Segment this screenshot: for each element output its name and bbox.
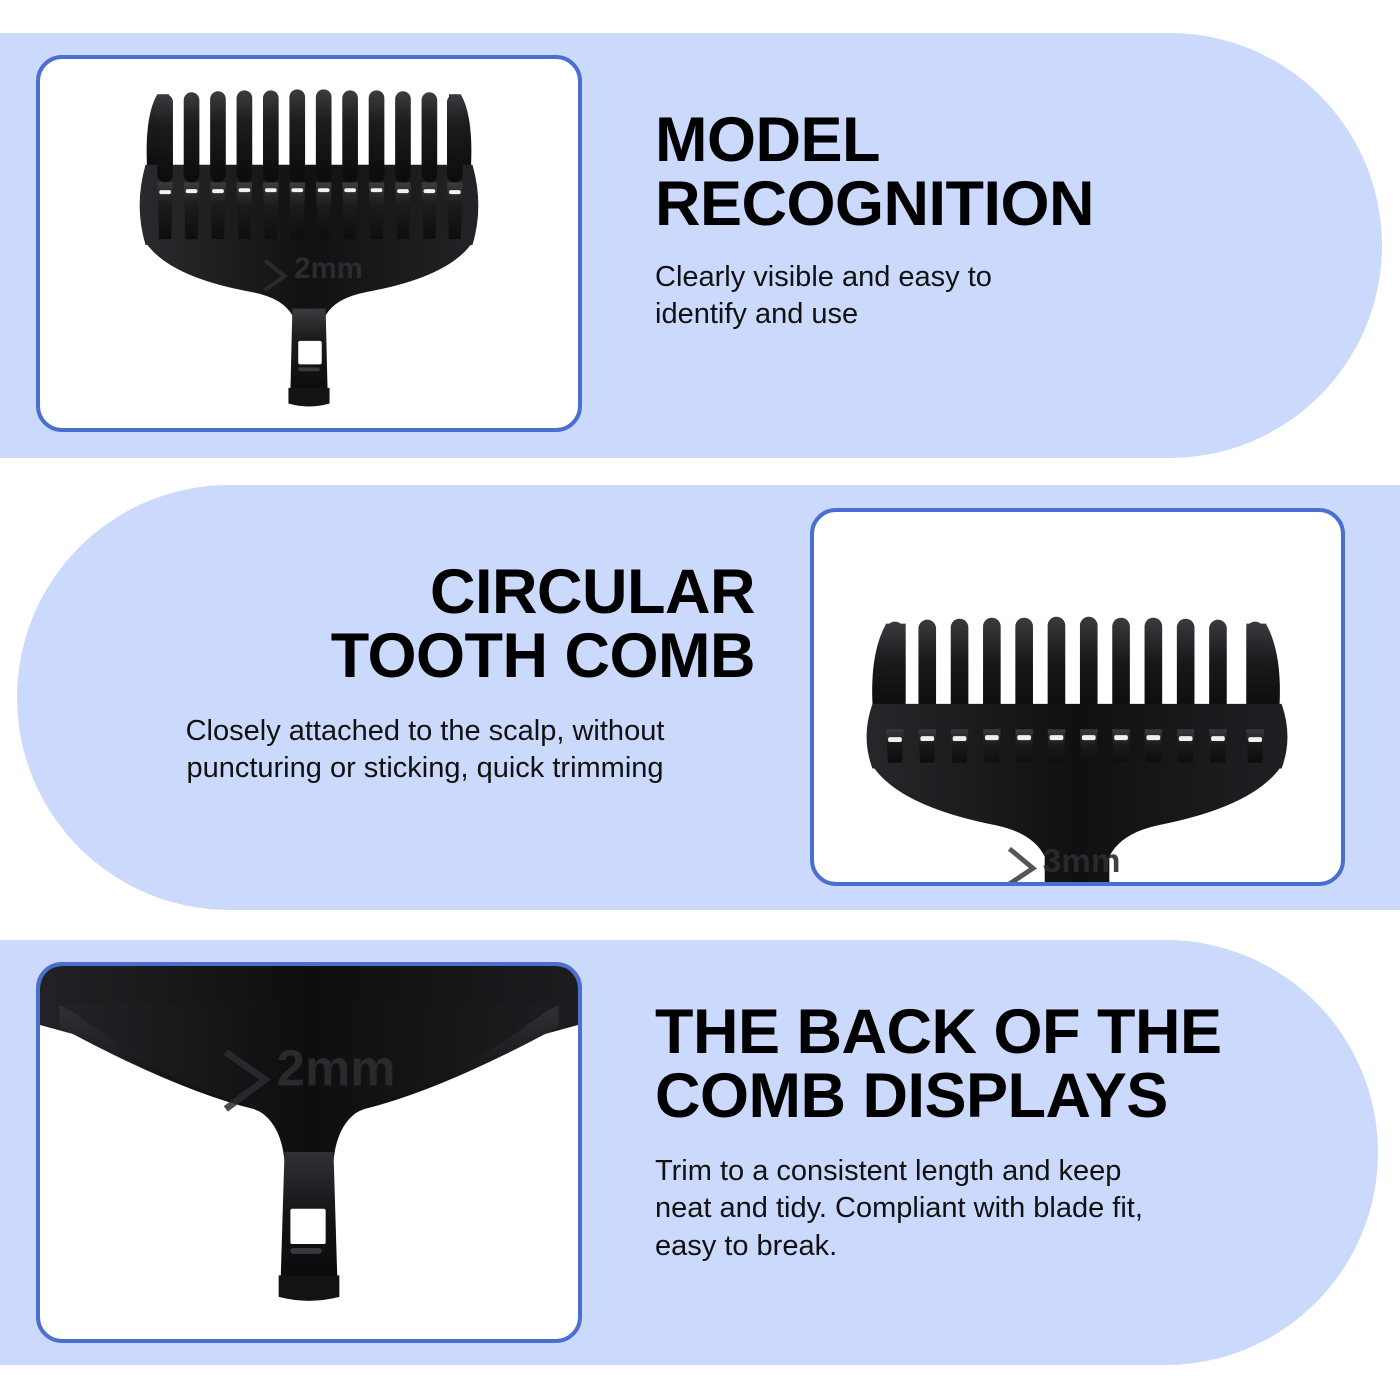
feature-heading-comb-back-displays: THE BACK OF THE COMB DISPLAYS: [655, 1000, 1295, 1129]
product-image-card-back-closeup: 2mm: [36, 962, 582, 1343]
embossed-size-label: 2mm: [277, 1039, 396, 1096]
feature-body-model-recognition: Clearly visible and easy to identify and…: [655, 259, 1275, 334]
feature-text-model-recognition: MODEL RECOGNITION Clearly visible and ea…: [655, 108, 1275, 334]
product-image-card-front-view: 2mm: [36, 55, 582, 432]
guide-comb-teeth-closeup-illustration: 3mm: [814, 512, 1341, 882]
feature-body-circular-tooth-comb: Closely attached to the scalp, without p…: [95, 713, 755, 788]
product-image-card-teeth-closeup: 3mm: [810, 508, 1345, 886]
feature-heading-circular-tooth-comb: CIRCULAR TOOTH COMB: [95, 560, 755, 689]
infographic-stage: 2mm MODEL RECOGNITION Clearly visible an…: [0, 0, 1400, 1400]
feature-heading-model-recognition: MODEL RECOGNITION: [655, 108, 1275, 237]
guide-comb-front-view-illustration: 2mm: [40, 59, 578, 428]
guide-comb-back-closeup-illustration: 2mm: [40, 966, 578, 1339]
embossed-size-label: 3mm: [1043, 843, 1121, 880]
feature-body-comb-back-displays: Trim to a consistent length and keep nea…: [655, 1153, 1295, 1266]
feature-text-comb-back-displays: THE BACK OF THE COMB DISPLAYS Trim to a …: [655, 1000, 1295, 1266]
embossed-size-label: 2mm: [294, 252, 363, 285]
feature-text-circular-tooth-comb: CIRCULAR TOOTH COMB Closely attached to …: [95, 560, 755, 788]
